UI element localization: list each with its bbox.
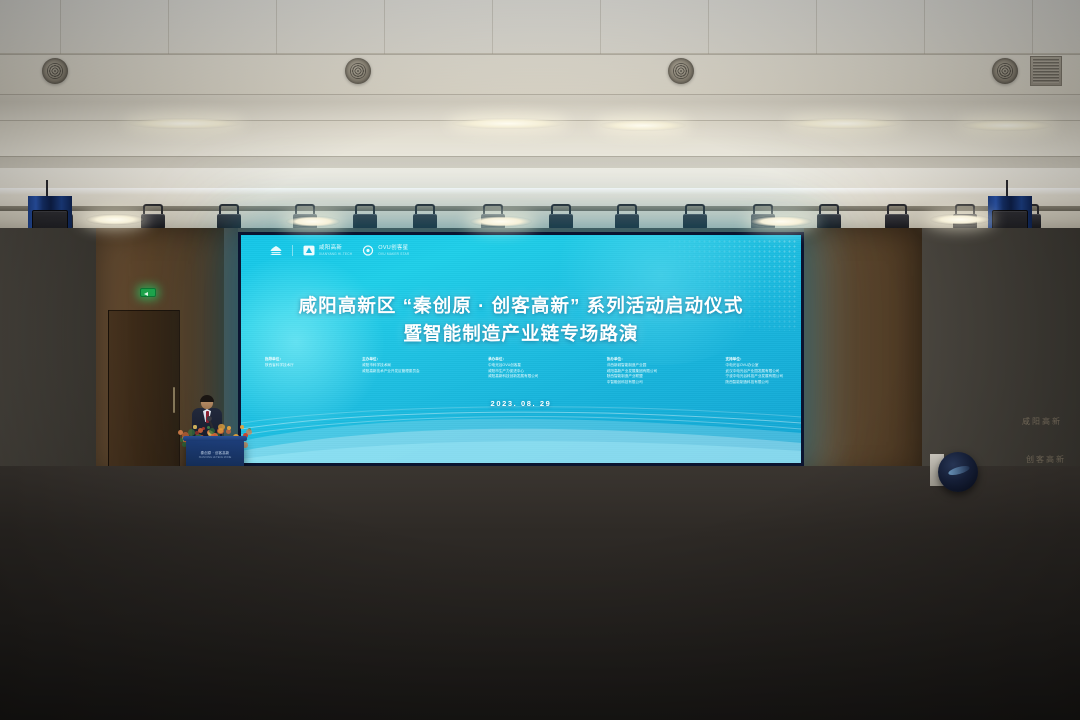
ceiling-vent [1030,56,1062,86]
fixture-body [549,214,573,229]
led-screen: 咸阳高新 XIANYANG HI-TECH OVU创客星 OVU MAKER S… [241,235,801,463]
floor-seating-area: 秦创原 · 创客高新嘉宾秦创原 · 创客高新嘉宾秦创原 · 创客高新嘉宾秦创原 … [0,466,1080,720]
xianyang-logo-sub: XIANYANG HI-TECH [319,252,352,256]
podium-plate-line1: 秦创原 · 创客高新 [193,450,237,455]
ceiling-tile-line [708,0,709,54]
fixture-body [413,214,437,229]
soffit-downlight [750,216,812,227]
fixture-body [615,214,639,229]
ceiling-seam [0,156,1080,157]
screen-logo-row: 咸阳高新 XIANYANG HI-TECH OVU创客星 OVU MAKER S… [269,245,409,256]
soffit-lip [0,188,1080,195]
xianyang-mark-icon [302,245,316,256]
credit-column: 协办单位：沣西新城智能制造产业园咸阳高新产业发展集团有限公司陕西智能制造产业联盟… [607,357,657,386]
screen-title: 咸阳高新区 “秦创原 · 创客高新” 系列活动启动仪式 暨智能制造产业链专场路演 [241,292,801,348]
flower [240,425,244,429]
fixture-body [217,214,241,229]
credit-item: 陕西省科学技术厅 [265,363,294,369]
credit-column: 指导单位：陕西省科学技术厅 [265,357,294,386]
credit-column: 承办单位：中电光谷OVU创客星咸阳市生产力促进中心咸阳高新科技创新发展有限公司 [488,357,538,386]
soffit-downlight [86,214,144,225]
flower [218,424,224,430]
credit-item: 咸阳高新技术产业开发区管理委员会 [362,369,420,375]
conference-hall-photo: 咸阳高新 创客高新 [0,0,1080,720]
ovu-mark-icon [361,245,375,256]
qinchuangyuan-mark-icon [269,245,283,256]
exit-sign [140,288,156,297]
screen-title-line1: 咸阳高新区 “秦创原 · 创客高新” 系列活动启动仪式 [299,295,744,316]
flower [193,425,196,428]
screen-credits: 指导单位：陕西省科学技术厅主办单位：咸阳市科学技术局咸阳高新技术产业开发区管理委… [265,357,783,386]
wall-panel-grey [922,228,1080,478]
ceiling-speaker [345,58,371,84]
flower [198,428,203,433]
recessed-downlight [128,118,240,129]
ceiling-tile-line [600,0,601,54]
recessed-downlight [452,118,564,129]
fixture-body [885,214,909,229]
wall-sign-top: 咸阳高新 [1022,416,1062,427]
ceiling-seam [0,54,1080,55]
ceiling-tile-line [384,0,385,54]
camera-dome-unit [930,448,984,494]
podium-plate: 秦创原 · 创客高新 XIANYANG HI-TECH ZONE [193,450,237,462]
logo-divider [292,245,293,256]
ovu-chuangkexing-logo: OVU创客星 OVU MAKER STAR [361,245,409,256]
credit-item: 咸阳高新科技创新发展有限公司 [488,374,538,380]
recessed-downlight [962,120,1052,131]
podium-top [183,436,247,441]
fixture-body [683,214,707,229]
wall-panel-grey [0,228,96,478]
ceiling-band-mid [0,54,1080,94]
soffit-downlight [930,214,990,225]
ceiling-tile-line [276,0,277,54]
soffit-downlight [470,216,532,227]
fixture-body [817,214,841,229]
wall-panel-wood [804,228,922,478]
ceiling-speaker [668,58,694,84]
side-door[interactable] [108,310,180,478]
podium-plate-line2: XIANYANG HI-TECH ZONE [193,456,237,459]
qinchuangyuan-logo [269,245,283,256]
soffit-downlight [286,216,340,227]
ceiling-tile-line [816,0,817,54]
presenter-hair [200,395,214,402]
ceiling-speaker [42,58,68,84]
ceiling-tile-line [924,0,925,54]
fixture-body [141,214,165,229]
screen-wave-decoration [241,385,801,463]
ceiling-tile-line [60,0,61,54]
fixture-body [353,214,377,229]
ceiling-tile-band-upper [0,0,1080,54]
ovu-logo-text: OVU创客星 [378,245,409,251]
ovu-logo-sub: OVU MAKER STAR [378,252,409,256]
ceiling-tile-line [492,0,493,54]
ceiling-tile-line [1032,0,1033,54]
ceiling-tile-line [168,0,169,54]
ceiling-speaker [992,58,1018,84]
ceiling-seam [0,94,1080,95]
xianyang-gaoxin-logo: 咸阳高新 XIANYANG HI-TECH [302,245,352,256]
recessed-downlight [790,118,900,129]
led-screen-bezel: 咸阳高新 XIANYANG HI-TECH OVU创客星 OVU MAKER S… [238,232,804,466]
credit-column: 主办单位：咸阳市科学技术局咸阳高新技术产业开发区管理委员会 [362,357,420,386]
screen-title-line2: 暨智能制造产业链专场路演 [241,320,801,348]
camera-dome [938,452,978,492]
wall-sign-bottom: 创客高新 [1026,454,1066,465]
credit-column: 支持单位：中电光谷OVU办公室武汉中电光谷产业园发展有限公司宁波中电光谷科技产业… [726,357,784,386]
recessed-downlight [600,120,686,131]
ceiling [0,0,1080,196]
